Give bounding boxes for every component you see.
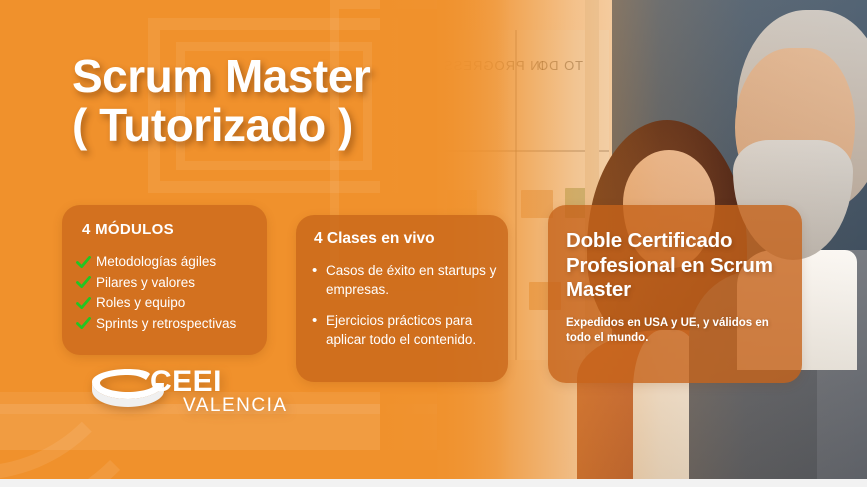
card-certificate-subtext: Expedidos en USA y UE, y válidos en todo… — [566, 316, 784, 347]
list-item: Ejercicios prácticos para aplicar todo e… — [312, 312, 508, 349]
list-item: Casos de éxito en startups y empresas. — [312, 262, 508, 299]
logo-text-ceei: CEEI — [150, 366, 222, 398]
check-icon — [76, 276, 91, 289]
list-item: Roles y equipo — [76, 293, 267, 314]
card-modules-heading: 4 MÓDULOS — [82, 221, 267, 238]
page-title: Scrum Master ( Tutorizado ) — [72, 52, 592, 150]
check-icon — [76, 317, 91, 330]
title-line-1: Scrum Master — [72, 50, 370, 102]
card-modules-list: Metodologías ágiles Pilares y valores Ro… — [76, 252, 267, 334]
card-certificate: Doble Certificado Profesional en Scrum M… — [548, 205, 802, 383]
list-item-label: Metodologías ágiles — [96, 252, 216, 273]
card-modules: 4 MÓDULOS Metodologías ágiles Pilares y … — [62, 205, 267, 355]
check-icon — [76, 297, 91, 310]
promotional-banner: IN PROGRESS TO DO Scrum Master ( Tutoriz… — [0, 0, 867, 487]
card-live-classes: 4 Clases en vivo Casos de éxito en start… — [296, 215, 508, 382]
bottom-strip — [0, 479, 867, 487]
card-live-classes-heading: 4 Clases en vivo — [314, 230, 508, 248]
list-item-label: Roles y equipo — [96, 293, 185, 314]
list-item: Sprints y retrospectivas — [76, 314, 267, 335]
title-line-2: ( Tutorizado ) — [72, 101, 592, 150]
ceei-valencia-logo: CEEI VALENCIA — [88, 366, 288, 416]
list-item: Pilares y valores — [76, 273, 267, 294]
card-live-classes-list: Casos de éxito en startups y empresas. E… — [312, 262, 508, 350]
logo-text-valencia: VALENCIA — [183, 395, 288, 416]
check-icon — [76, 256, 91, 269]
list-item: Metodologías ágiles — [76, 252, 267, 273]
list-item-label: Pilares y valores — [96, 273, 195, 294]
card-certificate-heading: Doble Certificado Profesional en Scrum M… — [566, 229, 802, 303]
list-item-label: Sprints y retrospectivas — [96, 314, 236, 335]
